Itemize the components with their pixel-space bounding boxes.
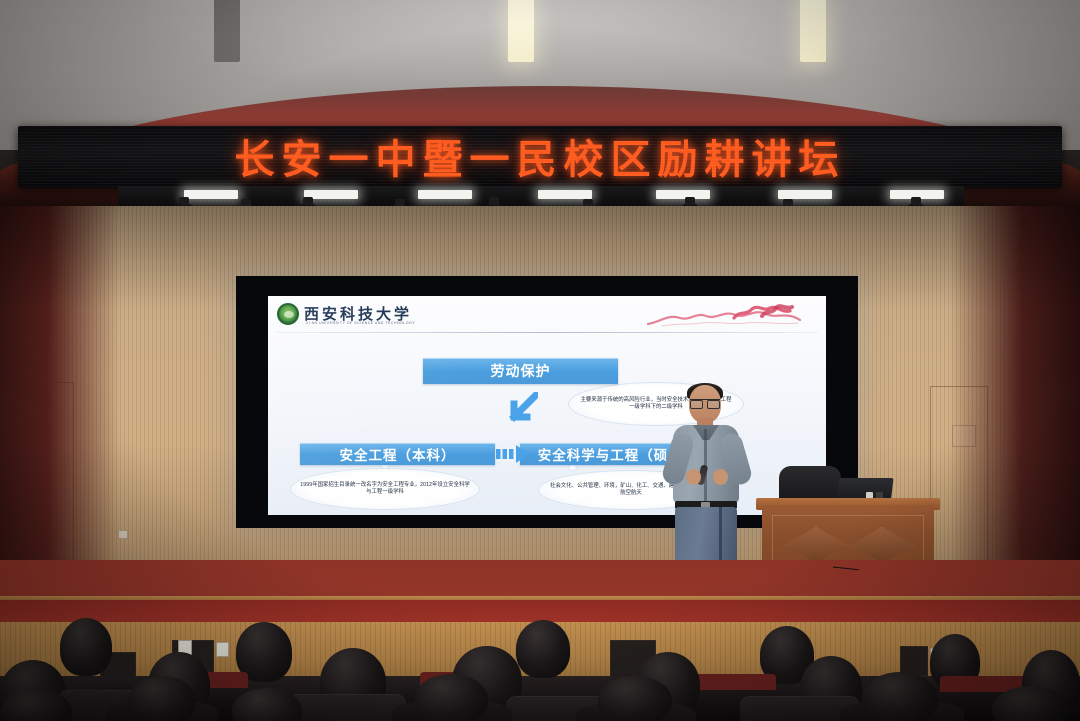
slide-header: 西安科技大学 XI'AN UNIVERSITY OF SCIENCE AND T… xyxy=(268,296,826,332)
led-strip-light xyxy=(656,190,710,199)
led-banner: 长安一中暨一民校区励耕讲坛 xyxy=(18,126,1062,188)
led-strip-light xyxy=(538,190,592,199)
university-emblem-icon xyxy=(277,303,299,325)
callout-bottom-left: 1999年国家招生目录统一改名字为安全工程专业，2012年设立安全科学与工程一级… xyxy=(290,468,480,510)
presenter-left-hand xyxy=(686,469,701,485)
audience-member xyxy=(128,676,196,721)
presenter-right-hand xyxy=(713,469,728,485)
auditorium-scene: 长安一中暨一民校区励耕讲坛 西安科技大学 XI'AN UNIVERSITY OF… xyxy=(0,0,1080,721)
university-name-en: XI'AN UNIVERSITY OF SCIENCE AND TECHNOLO… xyxy=(306,321,415,325)
box-labor-protection: 劳动保护 xyxy=(423,358,618,384)
box-safety-engineering: 安全工程（本科） xyxy=(300,443,495,465)
glasses-icon xyxy=(690,399,720,407)
mountain-ink-decoration xyxy=(642,302,812,330)
cloud-bubble xyxy=(568,464,577,471)
audience-member xyxy=(598,676,672,721)
audience-member xyxy=(516,620,570,678)
header-divider xyxy=(276,332,818,333)
led-strip-light xyxy=(778,190,832,199)
led-strip-light xyxy=(184,190,238,199)
seat xyxy=(288,694,406,721)
audience-member xyxy=(414,674,488,721)
audience-member xyxy=(862,672,938,721)
striped-right-arrow-icon xyxy=(496,444,538,464)
led-strip-light xyxy=(418,190,472,199)
audience-member xyxy=(60,618,112,676)
down-left-arrow-icon xyxy=(496,392,538,434)
light-switch[interactable] xyxy=(216,642,229,657)
led-scanline-overlay xyxy=(18,126,1062,188)
